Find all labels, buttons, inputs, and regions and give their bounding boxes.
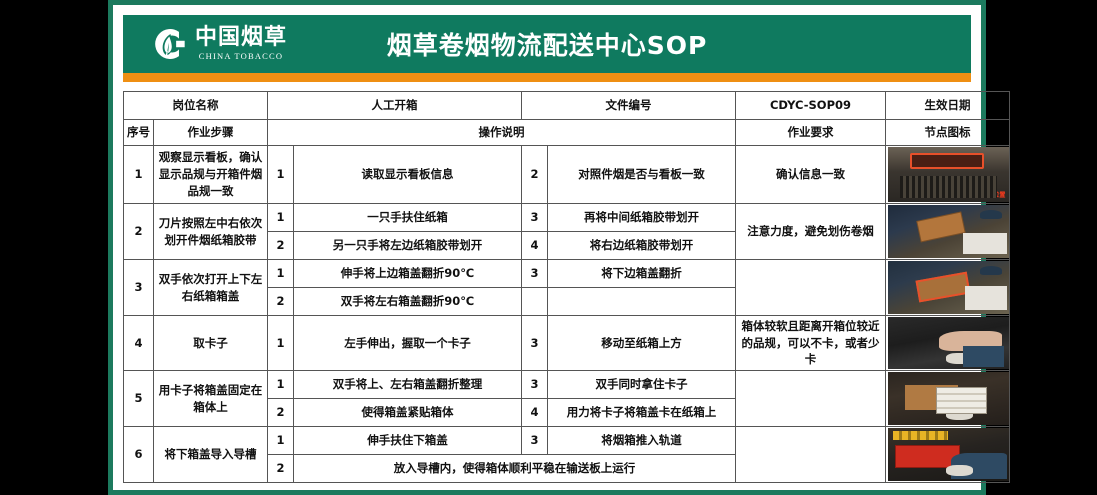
meta-post-value: 人工开箱 xyxy=(268,92,522,120)
table-row: 6 将下箱盖导入导槽 1 伸手扶住下箱盖 3 将烟箱推入轨道 xyxy=(124,427,1010,455)
row-photo-cell: 划开胶带 xyxy=(886,204,1010,260)
row-step-name: 用卡子将箱盖固定在箱体上 xyxy=(154,371,268,427)
row-requirement: 注意力度，避免划伤卷烟 xyxy=(736,204,886,260)
screenshot-root: 中国烟草 CHINA TOBACCO 烟草卷烟物流配送中心SOP xyxy=(0,0,1097,495)
substep-right-text: 对照件烟是否与看板一致 xyxy=(548,146,736,204)
row-requirement xyxy=(736,427,886,483)
substep-left-num: 2 xyxy=(268,288,294,316)
table-meta-row: 岗位名称 人工开箱 文件编号 CDYC-SOP09 生效日期 xyxy=(124,92,1010,120)
meta-doc-label: 文件编号 xyxy=(522,92,736,120)
row-requirement: 确认信息一致 xyxy=(736,146,886,204)
substep-left-num: 1 xyxy=(268,316,294,371)
substep-right-text: 将烟箱推入轨道 xyxy=(548,427,736,455)
substep-right-num: 3 xyxy=(522,260,548,288)
substep-right-text: 移动至纸箱上方 xyxy=(548,316,736,371)
substep-right-text: 用力将卡子将箱盖卡在纸箱上 xyxy=(548,399,736,427)
page-title: 烟草卷烟物流配送中心SOP xyxy=(123,26,971,62)
table-row: 4 取卡子 1 左手伸出，握取一个卡子 3 移动至纸箱上方 箱体较软且距离开箱位… xyxy=(124,316,1010,371)
substep-left-text: 使得箱盖紧贴箱体 xyxy=(294,399,522,427)
node-photo-5-icon xyxy=(888,372,1009,425)
meta-doc-value: CDYC-SOP09 xyxy=(736,92,886,120)
col-header-step: 作业步骤 xyxy=(154,120,268,146)
node-photo-1-icon: 显示看板位置 xyxy=(888,147,1009,202)
row-requirement: 箱体较软且距离开箱位较近的品规，可以不卡，或者少卡 xyxy=(736,316,886,371)
meta-date-label: 生效日期 xyxy=(886,92,1010,120)
row-step-name: 观察显示看板，确认显示品规与开箱件烟品规一致 xyxy=(154,146,268,204)
col-header-requirement: 作业要求 xyxy=(736,120,886,146)
row-photo-cell xyxy=(886,427,1010,483)
row-requirement xyxy=(736,260,886,316)
row-step-name: 双手依次打开上下左右纸箱箱盖 xyxy=(154,260,268,316)
substep-left-text: 读取显示看板信息 xyxy=(294,146,522,204)
table-row: 2 刀片按照左中右依次划开件烟纸箱胶带 1 一只手扶住纸箱 3 再将中间纸箱胶带… xyxy=(124,204,1010,232)
table-row: 3 双手依次打开上下左右纸箱箱盖 1 伸手将上边箱盖翻折90℃ 3 将下边箱盖翻… xyxy=(124,260,1010,288)
col-header-seq: 序号 xyxy=(124,120,154,146)
substep-left-text: 双手将上、左右箱盖翻折整理 xyxy=(294,371,522,399)
row-photo-cell xyxy=(886,371,1010,427)
meta-post-label: 岗位名称 xyxy=(124,92,268,120)
substep-right-num: 3 xyxy=(522,427,548,455)
node-photo-2-icon: 划开胶带 xyxy=(888,205,1009,258)
photo-caption: 显示看板位置 xyxy=(969,192,1005,201)
substep-left-num: 2 xyxy=(268,455,294,483)
substep-left-num: 1 xyxy=(268,260,294,288)
substep-right-text: 再将中间纸箱胶带划开 xyxy=(548,204,736,232)
worker-glove-shape xyxy=(946,465,973,476)
row-seq: 5 xyxy=(124,371,154,427)
substep-left-num: 1 xyxy=(268,146,294,204)
photo-caption: 划开胶带 xyxy=(981,248,1005,257)
sop-table: 岗位名称 人工开箱 文件编号 CDYC-SOP09 生效日期 序号 作业步骤 操… xyxy=(123,91,1010,483)
row-seq: 2 xyxy=(124,204,154,260)
table-header-row: 序号 作业步骤 操作说明 作业要求 节点图标 xyxy=(124,120,1010,146)
row-photo-cell: 箱盖翻折90° xyxy=(886,260,1010,316)
col-header-icon: 节点图标 xyxy=(886,120,1010,146)
node-photo-3-icon: 箱盖翻折90° xyxy=(888,261,1009,314)
substep-left-text: 一只手扶住纸箱 xyxy=(294,204,522,232)
substep-left-text: 伸手扶住下箱盖 xyxy=(294,427,522,455)
document-page: 中国烟草 CHINA TOBACCO 烟草卷烟物流配送中心SOP xyxy=(113,5,981,490)
photo-caption: 箱盖翻折90° xyxy=(970,304,1005,313)
substep-left-num: 1 xyxy=(268,427,294,455)
banner-accent-bar xyxy=(123,73,971,82)
substep-left-num: 1 xyxy=(268,371,294,399)
worker-glove-shape xyxy=(946,353,973,363)
col-header-instruction: 操作说明 xyxy=(268,120,736,146)
substep-left-text: 双手将左右箱盖翻折90℃ xyxy=(294,288,522,316)
substep-right-num: 3 xyxy=(522,316,548,371)
substep-right-text: 将右边纸箱胶带划开 xyxy=(548,232,736,260)
row-step-name: 将下箱盖导入导槽 xyxy=(154,427,268,483)
substep-left-num: 1 xyxy=(268,204,294,232)
page-frame: 中国烟草 CHINA TOBACCO 烟草卷烟物流配送中心SOP xyxy=(108,0,986,495)
row-photo-cell xyxy=(886,316,1010,371)
document-banner: 中国烟草 CHINA TOBACCO 烟草卷烟物流配送中心SOP xyxy=(123,15,971,73)
row-seq: 4 xyxy=(124,316,154,371)
substep-left-text: 左手伸出，握取一个卡子 xyxy=(294,316,522,371)
row-requirement xyxy=(736,371,886,427)
substep-right-num: 4 xyxy=(522,232,548,260)
substep-left-text: 放入导槽内，使得箱体顺利平稳在输送板上运行 xyxy=(294,455,736,483)
substep-left-text: 另一只手将左边纸箱胶带划开 xyxy=(294,232,522,260)
row-seq: 3 xyxy=(124,260,154,316)
substep-right-num xyxy=(522,288,548,316)
row-step-name: 刀片按照左中右依次划开件烟纸箱胶带 xyxy=(154,204,268,260)
table-row: 1 观察显示看板，确认显示品规与开箱件烟品规一致 1 读取显示看板信息 2 对照… xyxy=(124,146,1010,204)
substep-left-text: 伸手将上边箱盖翻折90℃ xyxy=(294,260,522,288)
row-step-name: 取卡子 xyxy=(154,316,268,371)
substep-left-num: 2 xyxy=(268,399,294,427)
worker-glove-shape xyxy=(946,409,973,420)
substep-right-text: 双手同时拿住卡子 xyxy=(548,371,736,399)
node-photo-6-icon xyxy=(888,428,1009,481)
substep-right-text: 将下边箱盖翻折 xyxy=(548,260,736,288)
worker-cap-shape xyxy=(980,266,1002,274)
row-photo-cell: 显示看板位置 xyxy=(886,146,1010,204)
table-row: 5 用卡子将箱盖固定在箱体上 1 双手将上、左右箱盖翻折整理 3 双手同时拿住卡… xyxy=(124,371,1010,399)
substep-right-num: 3 xyxy=(522,371,548,399)
node-photo-4-icon xyxy=(888,317,1009,369)
row-seq: 6 xyxy=(124,427,154,483)
substep-right-text xyxy=(548,288,736,316)
substep-right-num: 4 xyxy=(522,399,548,427)
worker-cap-shape xyxy=(980,210,1002,218)
substep-left-num: 2 xyxy=(268,232,294,260)
substep-right-num: 2 xyxy=(522,146,548,204)
substep-right-num: 3 xyxy=(522,204,548,232)
row-seq: 1 xyxy=(124,146,154,204)
